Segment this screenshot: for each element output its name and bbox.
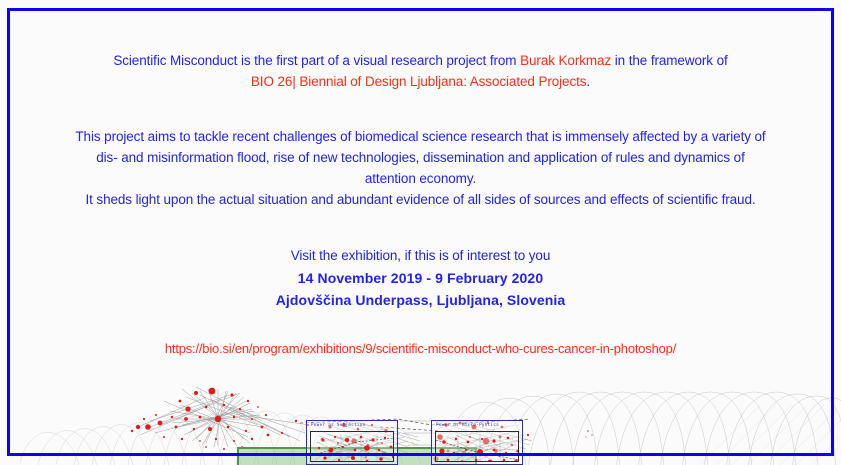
panel-outer-frame: Power as Micro-Pyhsics — [431, 420, 523, 465]
panel-label-subjection: Power as Subjection — [311, 422, 366, 427]
intro-line-1-prefix: Scientific Misconduct is the first part … — [113, 53, 520, 68]
intro-paragraph: Scientific Misconduct is the first part … — [0, 50, 841, 92]
intro-line-2-period: . — [586, 74, 590, 89]
panel-b-graph-svg — [436, 432, 519, 462]
exhibition-url-link[interactable]: https://bio.si/en/program/exhibitions/9/… — [0, 338, 841, 359]
panel-outer-frame: Power as Subjection — [306, 420, 398, 465]
exhibition-invite: Visit the exhibition, if this is of inte… — [0, 245, 841, 267]
graph-panel-power-as-subjection: Power as Subjection — [306, 420, 398, 465]
graph-panel-power-as-micro-physics: Power as Micro-Pyhsics — [431, 420, 523, 465]
diagonal-hatch — [700, 405, 840, 465]
artist-name: Burak Korkmaz — [520, 53, 611, 68]
description-line-2: dis- and misinformation flood, rise of n… — [0, 147, 841, 168]
description-line-1: This project aims to tackle recent chall… — [0, 126, 841, 147]
description-paragraph: This project aims to tackle recent chall… — [0, 126, 841, 210]
event-name: BIO 26| Biennial of Design Ljubljana: As… — [251, 74, 587, 89]
graph-nodes-stray — [585, 430, 592, 438]
link-paragraph: https://bio.si/en/program/exhibitions/9/… — [0, 338, 841, 359]
panel-inner-graph — [310, 431, 394, 462]
intro-line-2: BIO 26| Biennial of Design Ljubljana: As… — [0, 71, 841, 92]
panel-label-micro-physics: Power as Micro-Pyhsics — [436, 422, 499, 427]
description-line-3: attention economy. — [0, 168, 841, 189]
panel-a-graph-svg — [311, 432, 394, 462]
intro-line-1-suffix: in the framework of — [611, 53, 728, 68]
exhibition-details: Visit the exhibition, if this is of inte… — [0, 245, 841, 311]
exhibition-dates: 14 November 2019 - 9 February 2020 — [0, 267, 841, 289]
exhibition-venue: Ajdovščina Underpass, Ljubljana, Sloveni… — [0, 289, 841, 311]
panel-inner-graph — [435, 431, 519, 462]
description-line-4: It sheds light upon the actual situation… — [0, 189, 841, 210]
poster-page: Power as Subjection — [0, 0, 841, 465]
intro-line-1: Scientific Misconduct is the first part … — [0, 50, 841, 71]
